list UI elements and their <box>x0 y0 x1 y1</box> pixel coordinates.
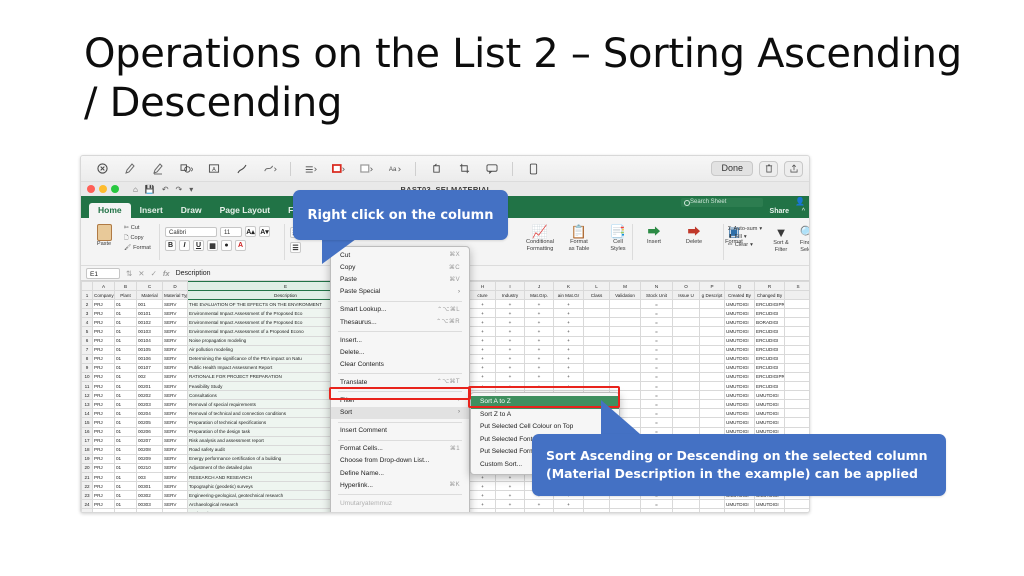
table-cell[interactable]: 00209 <box>137 454 163 463</box>
table-cell[interactable]: + <box>554 372 584 381</box>
header-cell[interactable]: Plant <box>115 291 137 300</box>
table-cell[interactable]: ERCUDIGI <box>755 354 785 363</box>
column-header-i[interactable]: I <box>496 282 525 291</box>
table-cell[interactable]: 01 <box>115 418 137 427</box>
tab-insert[interactable]: Insert <box>131 203 172 219</box>
table-cell[interactable]: 01 <box>115 382 137 391</box>
column-header-l[interactable]: L <box>584 282 610 291</box>
table-cell[interactable] <box>584 509 610 513</box>
header-cell[interactable]: Company <box>93 291 115 300</box>
table-cell[interactable]: UMUTDIGI <box>725 327 755 336</box>
table-cell[interactable]: + <box>525 318 554 327</box>
table-cell[interactable]: SERV <box>163 336 188 345</box>
bold-button[interactable]: B <box>165 240 176 251</box>
table-cell[interactable] <box>584 336 610 345</box>
table-cell[interactable] <box>673 391 700 400</box>
table-cell[interactable]: + <box>470 500 496 509</box>
table-cell[interactable] <box>584 309 610 318</box>
table-cell[interactable]: = <box>641 509 673 513</box>
table-cell[interactable]: 002 <box>137 372 163 381</box>
sketch-close-icon[interactable] <box>89 159 115 179</box>
table-cell[interactable]: UMUTDIGI <box>725 400 755 409</box>
conditional-formatting-button[interactable]: 📈 Conditional Formatting <box>523 224 557 253</box>
header-cell[interactable] <box>785 291 811 300</box>
table-cell[interactable]: UMUTDIGI <box>755 409 785 418</box>
name-box-stepper-icon[interactable]: ⇅ <box>126 269 132 278</box>
table-cell[interactable]: PRJ <box>93 318 115 327</box>
row-header[interactable]: 25 <box>82 509 93 513</box>
table-cell[interactable] <box>700 500 725 509</box>
table-cell[interactable] <box>785 354 811 363</box>
table-cell[interactable]: + <box>554 354 584 363</box>
table-cell[interactable]: + <box>496 372 525 381</box>
sort-option-sort-z-to-a[interactable]: Sort Z to A <box>471 409 619 422</box>
table-cell[interactable]: + <box>525 354 554 363</box>
table-cell[interactable] <box>673 400 700 409</box>
column-header-a[interactable]: A <box>93 282 115 291</box>
column-header-b[interactable]: B <box>115 282 137 291</box>
table-cell[interactable] <box>610 300 641 309</box>
header-cell[interactable]: g Descript <box>700 291 725 300</box>
table-cell[interactable]: 01 <box>115 363 137 372</box>
table-cell[interactable]: UMUTDIGI <box>725 345 755 354</box>
header-cell[interactable]: Material <box>137 291 163 300</box>
table-cell[interactable]: PRJ <box>93 372 115 381</box>
text-box-icon[interactable]: A <box>201 159 227 179</box>
table-cell[interactable]: = <box>641 336 673 345</box>
tab-home[interactable]: Home <box>89 203 131 219</box>
header-cell[interactable]: ain Mat.Gr <box>554 291 584 300</box>
menu-item-choose-from-drop-down-list[interactable]: Choose from Drop-down List... <box>331 455 469 467</box>
table-cell[interactable] <box>785 409 811 418</box>
font-size-select[interactable]: 11 <box>220 227 242 237</box>
table-cell[interactable]: PRJ <box>93 491 115 500</box>
table-cell[interactable] <box>584 372 610 381</box>
menu-item-smart-lookup[interactable]: Smart Lookup...⌃⌥⌘L <box>331 304 469 316</box>
table-cell[interactable]: 01 <box>115 454 137 463</box>
table-cell[interactable] <box>785 500 811 509</box>
row-header[interactable]: 20 <box>82 463 93 472</box>
table-cell[interactable] <box>785 509 811 513</box>
table-cell[interactable]: + <box>525 336 554 345</box>
header-cell[interactable]: Validation <box>610 291 641 300</box>
table-cell[interactable]: + <box>554 363 584 372</box>
table-cell[interactable]: UMUTDIGI <box>755 391 785 400</box>
share-button[interactable]: Share <box>770 208 789 215</box>
table-cell[interactable]: + <box>525 345 554 354</box>
table-cell[interactable] <box>610 354 641 363</box>
table-cell[interactable]: + <box>470 300 496 309</box>
table-cell[interactable]: + <box>470 336 496 345</box>
table-cell[interactable] <box>584 345 610 354</box>
table-cell[interactable]: 01 <box>115 309 137 318</box>
table-cell[interactable]: UMUTDIGI <box>725 318 755 327</box>
table-cell[interactable]: SERV <box>163 309 188 318</box>
table-cell[interactable]: SERV <box>163 418 188 427</box>
menu-item-paste[interactable]: Paste⌘V <box>331 274 469 286</box>
table-cell[interactable]: 01 <box>115 300 137 309</box>
table-cell[interactable]: 01 <box>115 336 137 345</box>
table-cell[interactable]: 01 <box>115 372 137 381</box>
table-cell[interactable]: SERV <box>163 400 188 409</box>
table-cell[interactable]: 01 <box>115 318 137 327</box>
text-style-icon[interactable]: Aa <box>382 159 408 179</box>
table-cell[interactable]: + <box>525 300 554 309</box>
table-cell[interactable] <box>785 372 811 381</box>
table-cell[interactable]: 00204 <box>137 409 163 418</box>
crop-icon[interactable] <box>451 159 477 179</box>
table-cell[interactable]: 01 <box>115 445 137 454</box>
table-cell[interactable] <box>673 418 700 427</box>
underline-button[interactable]: U <box>193 240 204 251</box>
table-cell[interactable]: = <box>641 391 673 400</box>
table-cell[interactable]: 00201 <box>137 382 163 391</box>
table-cell[interactable]: SERV <box>163 491 188 500</box>
sort-option-put-selected-cell-colour-on-top[interactable]: Put Selected Cell Colour on Top <box>471 421 619 434</box>
table-cell[interactable] <box>785 363 811 372</box>
table-cell[interactable]: + <box>496 491 525 500</box>
table-cell[interactable]: PRJ <box>93 382 115 391</box>
table-cell[interactable] <box>673 382 700 391</box>
table-cell[interactable]: 00101 <box>137 309 163 318</box>
table-cell[interactable]: PRJ <box>93 400 115 409</box>
table-cell[interactable] <box>673 327 700 336</box>
cancel-icon[interactable]: ✕ <box>138 269 144 278</box>
done-button[interactable]: Done <box>711 161 753 176</box>
table-cell[interactable]: SERV <box>163 427 188 436</box>
comment-icon[interactable] <box>479 159 505 179</box>
menu-item-insert-comment[interactable]: Insert Comment <box>331 425 469 437</box>
table-cell[interactable]: 01 <box>115 509 137 513</box>
table-cell[interactable]: SERV <box>163 472 188 481</box>
table-cell[interactable]: + <box>470 354 496 363</box>
menu-item-insert[interactable]: Insert... <box>331 335 469 347</box>
table-cell[interactable]: + <box>496 500 525 509</box>
table-cell[interactable]: ERCUDIGIPRJ <box>755 372 785 381</box>
tab-page-layout[interactable]: Page Layout <box>211 203 280 219</box>
table-cell[interactable]: SERV <box>163 372 188 381</box>
row-header[interactable]: 23 <box>82 491 93 500</box>
table-cell[interactable]: 00302 <box>137 491 163 500</box>
table-cell[interactable]: PRJ <box>93 327 115 336</box>
table-cell[interactable]: SERV <box>163 345 188 354</box>
table-cell[interactable]: SERV <box>163 391 188 400</box>
table-cell[interactable]: PRJ <box>93 445 115 454</box>
table-cell[interactable] <box>673 372 700 381</box>
table-cell[interactable]: 01 <box>115 482 137 491</box>
table-cell[interactable]: 01 <box>115 400 137 409</box>
account-icon[interactable]: 👤 <box>795 197 805 206</box>
row-header[interactable]: 17 <box>82 436 93 445</box>
table-cell[interactable]: SERV <box>163 327 188 336</box>
align-left-icon[interactable]: ☰ <box>290 242 301 253</box>
table-cell[interactable]: 00107 <box>137 363 163 372</box>
table-cell[interactable]: + <box>554 500 584 509</box>
header-cell[interactable]: Changed By <box>755 291 785 300</box>
delete-cells-button[interactable]: ⮕ Delete <box>677 224 711 246</box>
header-cell[interactable]: Material Typ <box>163 291 188 300</box>
sort-filter-button[interactable]: ▼ Sort & Filter <box>771 225 791 254</box>
line-style-icon[interactable] <box>298 159 324 179</box>
table-cell[interactable]: PRJ <box>93 336 115 345</box>
table-cell[interactable]: + <box>525 500 554 509</box>
row-header[interactable]: 4 <box>82 318 93 327</box>
menu-item-sort[interactable]: Sort› <box>331 407 469 419</box>
copy-button[interactable]: 🗋Copy <box>124 233 151 243</box>
table-cell[interactable]: + <box>554 345 584 354</box>
column-header-o[interactable]: O <box>673 282 700 291</box>
table-cell[interactable] <box>700 409 725 418</box>
row-header[interactable]: 6 <box>82 336 93 345</box>
table-cell[interactable]: UMUTDIGI <box>755 509 785 513</box>
format-painter-button[interactable]: 🖌Format <box>124 245 151 251</box>
row-header[interactable]: 9 <box>82 363 93 372</box>
table-cell[interactable] <box>610 309 641 318</box>
table-cell[interactable]: 00106 <box>137 354 163 363</box>
table-cell[interactable]: ERCUDIGI <box>755 309 785 318</box>
row-header[interactable]: 18 <box>82 445 93 454</box>
table-cell[interactable] <box>673 500 700 509</box>
menu-item-hyperlink[interactable]: Hyperlink...⌘K <box>331 480 469 492</box>
column-header-j[interactable]: J <box>525 282 554 291</box>
row-header[interactable]: 14 <box>82 409 93 418</box>
row-header[interactable]: 1 <box>82 291 93 300</box>
table-cell[interactable]: 00304 <box>137 509 163 513</box>
rotate-left-icon[interactable] <box>423 159 449 179</box>
column-header-r[interactable]: R <box>755 282 785 291</box>
sign-icon[interactable] <box>229 159 255 179</box>
table-cell[interactable]: + <box>470 372 496 381</box>
table-cell[interactable]: = <box>641 354 673 363</box>
table-cell[interactable]: + <box>470 327 496 336</box>
table-cell[interactable]: SERV <box>163 445 188 454</box>
ribbon-collapse-icon[interactable]: ^ <box>802 208 805 215</box>
font-family-select[interactable]: Calibri <box>165 227 217 237</box>
row-header[interactable]: 11 <box>82 382 93 391</box>
table-cell[interactable]: PRJ <box>93 500 115 509</box>
table-cell[interactable]: + <box>496 336 525 345</box>
find-select-button[interactable]: 🔍 Find & Select <box>798 225 810 254</box>
table-cell[interactable]: + <box>470 345 496 354</box>
table-cell[interactable]: 00205 <box>137 418 163 427</box>
header-cell[interactable]: Class <box>584 291 610 300</box>
table-cell[interactable] <box>700 509 725 513</box>
table-cell[interactable]: 00102 <box>137 318 163 327</box>
table-cell[interactable]: + <box>496 363 525 372</box>
table-cell[interactable]: UMUTDIGI <box>755 400 785 409</box>
table-cell[interactable]: ERCUDIGI <box>755 327 785 336</box>
row-header[interactable]: 15 <box>82 418 93 427</box>
table-cell[interactable]: + <box>470 491 496 500</box>
row-header[interactable]: 21 <box>82 472 93 481</box>
table-cell[interactable]: 01 <box>115 436 137 445</box>
table-cell[interactable] <box>700 336 725 345</box>
table-cell[interactable] <box>673 300 700 309</box>
table-cell[interactable]: 00206 <box>137 427 163 436</box>
table-cell[interactable]: SERV <box>163 454 188 463</box>
menu-item-thesaurus[interactable]: Thesaurus...⌃⌥⌘R <box>331 316 469 328</box>
cell-styles-button[interactable]: 📑 Cell Styles <box>601 224 635 253</box>
table-cell[interactable]: = <box>641 327 673 336</box>
name-box[interactable]: E1 <box>86 268 120 279</box>
table-cell[interactable]: + <box>496 509 525 513</box>
table-cell[interactable]: SERV <box>163 509 188 513</box>
row-header[interactable]: 8 <box>82 354 93 363</box>
table-cell[interactable]: UMUTDIGI <box>725 336 755 345</box>
table-cell[interactable]: UMUTDIGI <box>725 391 755 400</box>
table-cell[interactable]: + <box>470 363 496 372</box>
table-cell[interactable]: 01 <box>115 391 137 400</box>
device-icon[interactable] <box>520 159 546 179</box>
table-cell[interactable]: PRJ <box>93 363 115 372</box>
table-cell[interactable]: + <box>470 482 496 491</box>
table-cell[interactable]: + <box>554 300 584 309</box>
menu-item-delete[interactable]: Delete... <box>331 347 469 359</box>
table-cell[interactable]: SERV <box>163 363 188 372</box>
table-cell[interactable]: UMUTDIGI <box>725 509 755 513</box>
table-cell[interactable]: + <box>554 336 584 345</box>
header-cell[interactable]: Industry <box>496 291 525 300</box>
table-cell[interactable]: 01 <box>115 427 137 436</box>
header-cell[interactable]: Mat.Grp. <box>525 291 554 300</box>
table-cell[interactable]: 00104 <box>137 336 163 345</box>
fill-colour-icon[interactable] <box>354 159 380 179</box>
context-menu[interactable]: Cut⌘XCopy⌘CPaste⌘VPaste Special›Smart Lo… <box>330 246 470 513</box>
table-cell[interactable]: + <box>496 327 525 336</box>
table-cell[interactable]: 00208 <box>137 445 163 454</box>
table-cell[interactable] <box>673 354 700 363</box>
row-header[interactable]: 7 <box>82 345 93 354</box>
table-cell[interactable] <box>673 409 700 418</box>
table-cell[interactable]: 01 <box>115 472 137 481</box>
table-cell[interactable]: 01 <box>115 500 137 509</box>
table-cell[interactable]: UMUTDIGI <box>725 300 755 309</box>
menu-item-take-photo[interactable]: Take Photo <box>331 510 469 513</box>
table-cell[interactable]: + <box>554 318 584 327</box>
table-cell[interactable]: 00207 <box>137 436 163 445</box>
table-cell[interactable]: 00202 <box>137 391 163 400</box>
table-cell[interactable]: UMUTDIGI <box>725 363 755 372</box>
table-cell[interactable]: SERV <box>163 300 188 309</box>
table-cell[interactable]: + <box>496 345 525 354</box>
table-cell[interactable]: ERCUDIGIPRJ <box>755 300 785 309</box>
table-cell[interactable]: PRJ <box>93 391 115 400</box>
table-cell[interactable]: ERCUDIGI <box>755 345 785 354</box>
table-cell[interactable] <box>673 336 700 345</box>
column-header-p[interactable]: P <box>700 282 725 291</box>
table-cell[interactable]: + <box>554 309 584 318</box>
table-cell[interactable] <box>700 354 725 363</box>
table-cell[interactable]: 001 <box>137 300 163 309</box>
table-cell[interactable]: PRJ <box>93 482 115 491</box>
table-cell[interactable]: 00103 <box>137 327 163 336</box>
table-cell[interactable]: PRJ <box>93 427 115 436</box>
fill-button[interactable]: ⬇Fill ▾ <box>728 234 747 240</box>
autosum-button[interactable]: ΣAuto-sum ▾ <box>728 226 762 232</box>
table-cell[interactable]: PRJ <box>93 345 115 354</box>
table-cell[interactable]: + <box>470 318 496 327</box>
table-cell[interactable] <box>584 354 610 363</box>
table-cell[interactable]: = <box>641 300 673 309</box>
table-cell[interactable]: PRJ <box>93 472 115 481</box>
table-cell[interactable]: 01 <box>115 463 137 472</box>
table-cell[interactable]: PRJ <box>93 354 115 363</box>
table-cell[interactable]: 01 <box>115 345 137 354</box>
table-cell[interactable]: UMUTDIGI <box>725 409 755 418</box>
table-cell[interactable]: PRJ <box>93 309 115 318</box>
border-colour-icon[interactable] <box>326 159 352 179</box>
table-cell[interactable] <box>610 318 641 327</box>
menu-item-clear-contents[interactable]: Clear Contents <box>331 359 469 371</box>
table-cell[interactable]: + <box>525 327 554 336</box>
table-cell[interactable]: PRJ <box>93 454 115 463</box>
table-cell[interactable]: PRJ <box>93 409 115 418</box>
row-header[interactable]: 3 <box>82 309 93 318</box>
table-cell[interactable]: 00303 <box>137 500 163 509</box>
table-cell[interactable]: ERCUDIGI <box>755 363 785 372</box>
table-cell[interactable]: SERV <box>163 382 188 391</box>
table-cell[interactable]: ERCUDIGI <box>755 336 785 345</box>
table-cell[interactable] <box>785 400 811 409</box>
table-cell[interactable]: SERV <box>163 500 188 509</box>
table-cell[interactable]: PRJ <box>93 436 115 445</box>
table-cell[interactable] <box>673 509 700 513</box>
table-cell[interactable] <box>700 418 725 427</box>
row-header[interactable]: 13 <box>82 400 93 409</box>
table-cell[interactable]: 00105 <box>137 345 163 354</box>
table-cell[interactable]: PRJ <box>93 463 115 472</box>
table-cell[interactable]: + <box>496 300 525 309</box>
table-cell[interactable] <box>610 327 641 336</box>
table-cell[interactable] <box>785 391 811 400</box>
column-header-h[interactable]: H <box>470 282 496 291</box>
menu-item-define-name[interactable]: Define Name... <box>331 467 469 479</box>
table-cell[interactable] <box>785 327 811 336</box>
shapes-icon[interactable] <box>173 159 199 179</box>
row-header[interactable]: 12 <box>82 391 93 400</box>
table-cell[interactable]: 01 <box>115 354 137 363</box>
table-cell[interactable]: UMUTDIGI <box>725 418 755 427</box>
borders-icon[interactable]: ▦ <box>207 240 218 251</box>
table-cell[interactable] <box>673 318 700 327</box>
table-cell[interactable] <box>700 327 725 336</box>
table-cell[interactable]: PRJ <box>93 418 115 427</box>
table-cell[interactable]: = <box>641 500 673 509</box>
table-cell[interactable] <box>700 363 725 372</box>
header-cell[interactable]: Issue U <box>673 291 700 300</box>
column-header-n[interactable]: N <box>641 282 673 291</box>
table-cell[interactable] <box>610 363 641 372</box>
table-cell[interactable]: UMUTDIGI <box>725 382 755 391</box>
table-cell[interactable]: 00301 <box>137 482 163 491</box>
table-cell[interactable]: UMUTDIGI <box>725 372 755 381</box>
column-header-q[interactable]: Q <box>725 282 755 291</box>
table-cell[interactable]: ERCUDIGI <box>755 382 785 391</box>
table-cell[interactable]: SERV <box>163 482 188 491</box>
table-cell[interactable]: + <box>496 482 525 491</box>
table-cell[interactable] <box>610 336 641 345</box>
table-cell[interactable] <box>700 309 725 318</box>
insert-cells-button[interactable]: ⮕ Insert <box>637 224 671 246</box>
column-header-s[interactable]: S <box>785 282 811 291</box>
table-cell[interactable]: + <box>554 327 584 336</box>
table-cell[interactable]: SERV <box>163 436 188 445</box>
table-cell[interactable] <box>700 300 725 309</box>
header-cell[interactable]: Created By <box>725 291 755 300</box>
table-cell[interactable]: UMUTDIGI <box>725 309 755 318</box>
table-cell[interactable] <box>700 372 725 381</box>
font-colour-button[interactable]: A <box>235 240 246 251</box>
